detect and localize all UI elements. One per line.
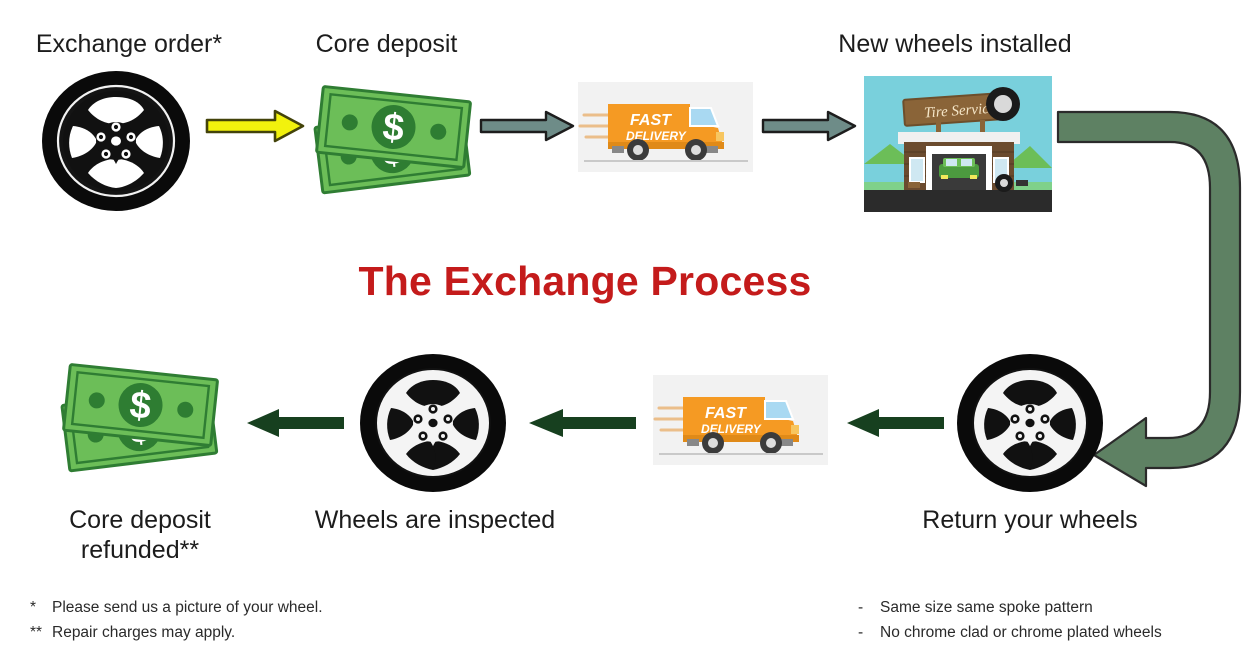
- svg-text:FAST: FAST: [705, 405, 747, 422]
- footnote-right-2-marker: -: [858, 620, 880, 645]
- arrow-yellow-order-to-deposit: [205, 109, 305, 143]
- truck-text-fast: FAST: [630, 112, 672, 129]
- label-core-deposit-refunded-line2: refunded**: [30, 536, 250, 566]
- footnote-left-2-text: Repair charges may apply.: [52, 624, 235, 641]
- infographic-canvas: Exchange order* Core deposit New wheels …: [0, 0, 1250, 666]
- arrow-green-shipping-to-inspection: [527, 407, 637, 439]
- label-core-deposit-refunded: Core deposit refunded**: [30, 506, 250, 565]
- money-icon-core-deposit: $ $: [305, 72, 481, 208]
- arrow-slate-deposit-to-shipping: [480, 110, 575, 142]
- label-exchange-order: Exchange order*: [0, 30, 258, 60]
- footnotes-right: -Same size same spoke pattern -No chrome…: [858, 595, 1162, 645]
- label-return-your-wheels: Return your wheels: [890, 506, 1170, 536]
- label-wheels-inspected: Wheels are inspected: [295, 506, 575, 536]
- footnote-left-1-text: Please send us a picture of your wheel.: [52, 599, 323, 616]
- wheel-icon-exchange-order: [40, 70, 192, 212]
- tire-service-shop-image: Tire Service: [864, 76, 1052, 212]
- svg-text:$: $: [128, 384, 153, 428]
- label-new-wheels-installed: New wheels installed: [795, 30, 1115, 60]
- arrow-green-inspection-to-refund: [245, 407, 345, 439]
- label-core-deposit-refunded-line1: Core deposit: [30, 506, 250, 536]
- money-icon-core-deposit-refunded: $ $: [52, 350, 228, 486]
- footnote-left-1-marker: *: [30, 595, 52, 620]
- page-title: The Exchange Process: [275, 258, 895, 305]
- footnote-left-1: *Please send us a picture of your wheel.: [30, 595, 323, 620]
- footnote-right-1-marker: -: [858, 595, 880, 620]
- footnote-right-1-text: Same size same spoke pattern: [880, 599, 1093, 616]
- footnote-left-2: **Repair charges may apply.: [30, 620, 323, 645]
- wheel-icon-return-your-wheels: [955, 353, 1105, 493]
- delivery-truck-icon-return: FAST DELIVERY: [653, 375, 828, 465]
- footnote-left-2-marker: **: [30, 620, 52, 645]
- arrow-slate-shipping-to-install: [762, 110, 857, 142]
- wheel-icon-wheels-inspected: [358, 353, 508, 493]
- delivery-truck-icon-outbound: FAST DELIVERY: [578, 82, 753, 172]
- footnote-right-2-text: No chrome clad or chrome plated wheels: [880, 624, 1162, 641]
- footnote-right-2: -No chrome clad or chrome plated wheels: [858, 620, 1162, 645]
- label-core-deposit: Core deposit: [268, 30, 505, 60]
- arrow-green-return-to-shipping: [845, 407, 945, 439]
- footnote-right-1: -Same size same spoke pattern: [858, 595, 1162, 620]
- svg-text:$: $: [381, 106, 406, 150]
- footnotes-left: *Please send us a picture of your wheel.…: [30, 595, 323, 645]
